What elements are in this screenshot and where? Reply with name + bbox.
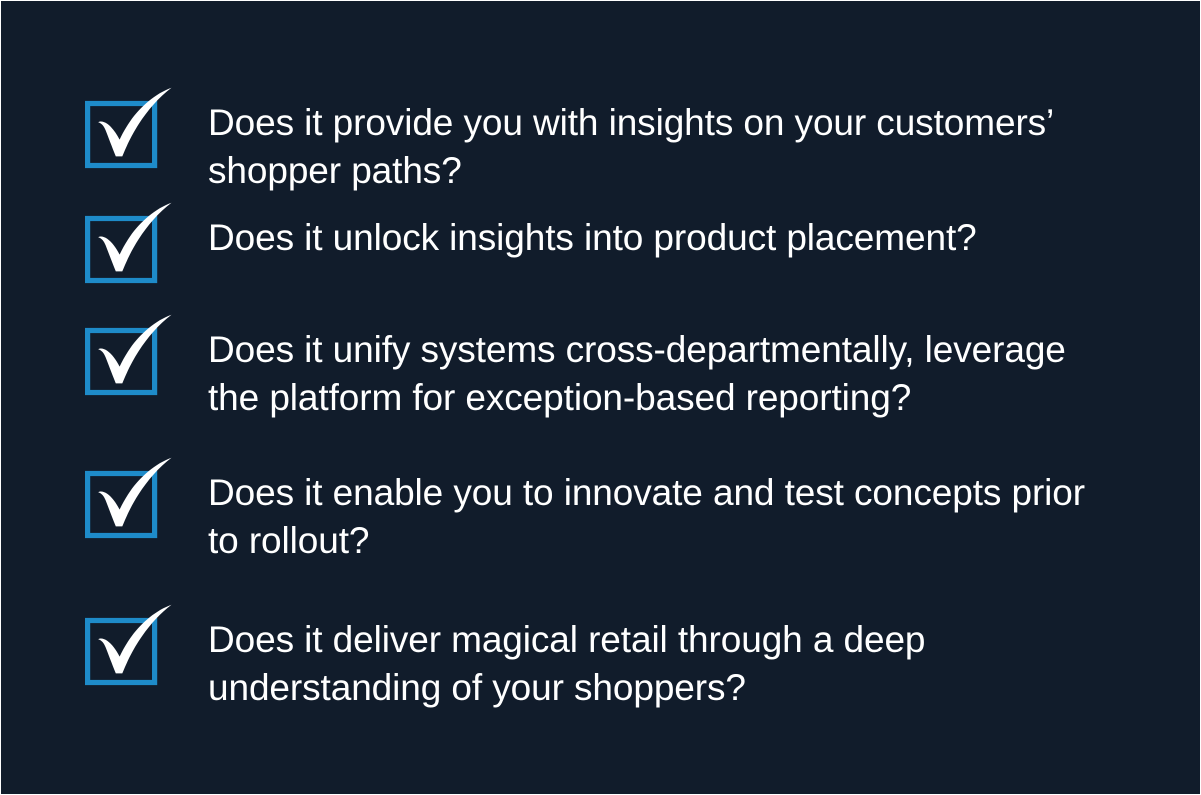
list-item[interactable]: Does it unlock insights into product pla… [85,202,1145,284]
list-item-label: Does it deliver magical retail through a… [208,616,1145,712]
checklist-panel: Does it provide you with insights on you… [0,0,1201,795]
list-item-label: Does it provide you with insights on you… [208,99,1145,195]
checked-checkbox-icon[interactable] [85,604,173,686]
list-item-label: Does it unlock insights into product pla… [208,214,1145,262]
checked-checkbox-icon[interactable] [85,457,173,539]
list-item-label: Does it enable you to innovate and test … [208,469,1145,565]
checked-checkbox-icon[interactable] [85,87,173,169]
checked-checkbox-icon[interactable] [85,314,173,396]
list-item[interactable]: Does it unify systems cross-departmental… [85,314,1145,422]
list-item-label: Does it unify systems cross-departmental… [208,326,1145,422]
list-item[interactable]: Does it enable you to innovate and test … [85,457,1145,565]
checked-checkbox-icon[interactable] [85,202,173,284]
list-item[interactable]: Does it provide you with insights on you… [85,87,1145,195]
list-item[interactable]: Does it deliver magical retail through a… [85,604,1145,712]
